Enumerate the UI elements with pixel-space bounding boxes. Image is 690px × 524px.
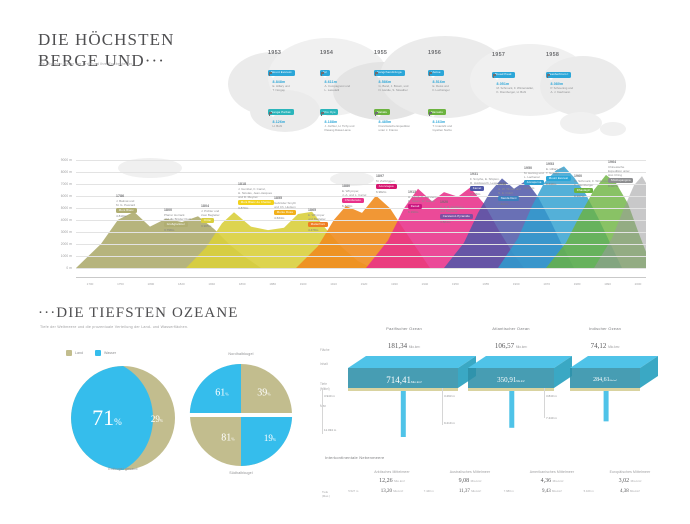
peak-tag[interactable]: Großglockner: [164, 222, 188, 227]
timeline-event: Nanga Parbat8.126mH. Buhl: [268, 100, 320, 129]
table-area-unit: Mio.km²: [631, 479, 642, 483]
table-column-header: Amerikanisches Mittelmeer: [530, 470, 574, 474]
timeline-event: Kangchendzönga8.586mG. Band, J. Brown, u…: [374, 60, 426, 93]
peak-elevation: 7.816m: [498, 202, 521, 206]
peak-elevation: 7.756m: [470, 192, 500, 196]
event-climbers: E. Reiss und F. Luchsinger: [433, 85, 481, 93]
peak-tag[interactable]: Mount Everest: [546, 176, 571, 181]
peak-tag[interactable]: Mont Blanc de Cheilon: [238, 200, 274, 205]
x-axis-tick: 1960: [513, 282, 520, 286]
x-axis-tick: 1800: [148, 282, 155, 286]
timeline-event: Cho Oyu8.188mJ. Jöchler, H. Tichy und Pa…: [320, 100, 372, 133]
timeline-year-label: 1956: [428, 50, 480, 56]
peak-climbers: F. Smythe, E. Shipton, R. Holdsworth, Le…: [470, 177, 500, 185]
table-column: Australisches Mittelmeer9,08 Mio.km²11,3…: [450, 470, 491, 494]
peak-climbers: E. Whymper, J.-A. und L. Carrel: [342, 189, 366, 197]
peak-annotation: 1964Chinesische Expedition unter Hsü Chi…: [608, 160, 633, 188]
table-row-label: Tiefe (Max.): [322, 490, 330, 498]
x-axis-tick: 1955: [482, 282, 489, 286]
mountain-chart: 9000 m8000 m7000 m6000 m5000 m4000 m3000…: [46, 160, 646, 278]
climber-flag-icon: [428, 72, 432, 76]
peak-tag[interactable]: Denali: [408, 204, 422, 209]
basin-3d-block: [468, 356, 578, 470]
basin-depth-column: [509, 391, 514, 428]
basin-floor: [468, 388, 554, 391]
table-volume: 11,37 Mio.km³: [450, 489, 491, 494]
basin-area-unit: Mio.km²: [516, 345, 527, 349]
peak-annotation: 1800Pfarrer Horrack und die Brüder Klotz…: [164, 208, 191, 232]
gridline: [76, 160, 646, 161]
basin-area-value: 74,12: [591, 342, 607, 350]
table-volume: 9,43 Mio.km³: [530, 489, 574, 494]
ocean-legend: Land Wasser: [66, 350, 116, 356]
timeline-year-label: 1958: [546, 52, 598, 58]
table-volume-unit: Mio.km³: [471, 489, 481, 493]
basin-row-label: Inhalt: [320, 362, 328, 367]
peak-climbers: Chinesische Expedition unter Hsü Ching: [608, 165, 633, 177]
basin-volume-value: 714,41: [386, 375, 411, 385]
basin-volume: 284,61Mio.km³: [593, 377, 617, 383]
x-axis-tick: 1750: [117, 282, 124, 286]
table-column-header: Europäisches Mittelmeer: [610, 470, 651, 474]
table-column: Arktisches Mittelmeer12,26 Mio.km²13,20 …: [374, 470, 410, 494]
x-axis-tick: 1970: [543, 282, 550, 286]
peak-climbers: M. Herzog und L. Lachenal: [524, 171, 544, 179]
basin-mean-depth: 3.840 m: [546, 394, 557, 398]
peak-tag[interactable]: Matterhorn: [308, 222, 328, 227]
peak-climbers: E. Whymper und Begleiter: [308, 213, 328, 221]
x-axis-tick: 1910: [330, 282, 337, 286]
pie-south-land-value: 19%: [264, 433, 276, 443]
event-climbers: P. Schoening und A. J. Kaufmann: [551, 87, 599, 95]
legend-label-water: Wasser: [104, 351, 116, 355]
table-area-unit: Mio.km²: [553, 479, 564, 483]
y-axis-tick: 2000 m: [46, 242, 72, 246]
table-column-header: Arktisches Mittelmeer: [374, 470, 410, 474]
peak-elevation: 8.167m: [574, 194, 612, 198]
table-depth: 7.440 m: [424, 489, 434, 493]
peak-elevation: 6.310m: [342, 204, 366, 208]
table-volume-value: 4,38: [620, 489, 629, 494]
timeline-event: Makalu8.485mFranzösische Expedition unte…: [374, 100, 426, 133]
peak-elevation: 8.848m: [546, 182, 571, 186]
timeline-event: Lhotse8.516mE. Reiss und F. Luchsinger: [428, 60, 480, 93]
x-axis-tick: 1950: [452, 282, 459, 286]
event-climbers: T. Imanishi und Gyalzen Norbu: [433, 125, 481, 133]
climber-flag-icon: [374, 112, 378, 116]
x-axis-tick: 1990: [604, 282, 611, 286]
peak-climbers: E. Hillary und T. Norgay: [546, 167, 571, 175]
basin-volume-unit: Mio.km³: [610, 380, 617, 382]
basin-area-unit: Mio.km²: [608, 345, 619, 349]
event-climbers: A. Compagnoni und L. Lacedelli: [325, 85, 373, 93]
basin-title: Pazifischer Ozean: [386, 326, 422, 331]
x-axis-tick: 1920: [361, 282, 368, 286]
climber-flag-icon: [268, 112, 272, 116]
table-area-unit: Mio.km²: [394, 479, 405, 483]
table-area-value: 12,26: [379, 478, 393, 484]
basin-volume-value: 350,91: [497, 376, 516, 384]
x-axis-tick: 1880: [269, 282, 276, 286]
y-axis-tick: 6000 m: [46, 194, 72, 198]
peak-annotation: 1897M. ZurbriggenAconcagua6.962m: [376, 174, 397, 194]
table-column: Amerikanisches Mittelmeer4,36 Mio.km²9,4…: [530, 470, 574, 494]
climber-flag-icon: [268, 72, 272, 76]
pie-global-land-value: 29%: [151, 414, 163, 424]
peak-annotation: 1920A. F. R. Wollaston und BegleiterCars…: [440, 200, 473, 224]
basin-row-label: Fläche: [320, 348, 330, 353]
basin-title: Indischer Ozean: [589, 326, 621, 331]
peak-tag[interactable]: Chimborazo: [342, 198, 364, 203]
x-axis-tick: 1980: [574, 282, 581, 286]
timeline-event: Manaslu8.163mT. Imanishi und Gyalzen Nor…: [428, 100, 480, 133]
event-climbers: M. Schmuck, F. Wintersteller, K. Diember…: [497, 87, 545, 95]
gridline: [76, 232, 646, 233]
table-title: Interkontinentale Nebenmeere: [325, 455, 384, 460]
peak-elevation: 4.884m: [440, 220, 473, 224]
peak-climbers: A. F. R. Wollaston und Begleiter: [440, 205, 473, 213]
basin-mean-depth: 3.940 m: [324, 394, 335, 398]
table-area-value: 4,36: [541, 478, 552, 484]
pie-chart-global: [58, 363, 188, 473]
pie-north-land-value: 39%: [257, 388, 271, 399]
chart-x-axis: [76, 277, 646, 278]
peak-annotation: 1913H. Stuck, H. Karstens, R. Tatum, W. …: [408, 190, 438, 214]
basin-area: 74,12 Mio.km²: [591, 342, 620, 350]
event-climbers: Französische Expedition unter J. Franco: [379, 125, 427, 133]
peak-tag[interactable]: Mont Blanc: [116, 208, 137, 213]
peak-climbers: J. Pichler und zwei Begleiter: [201, 209, 220, 217]
ocean-title: ···DIE TIEFSTEN OZEANE: [38, 305, 239, 322]
basin-surface: [468, 356, 572, 368]
peak-climbers: J. Gumbar, F. Carrel, H. Nicolas, Jean-J…: [238, 187, 274, 199]
timeline-event: Gasherbrum I8.080mP. Schoening und A. J.…: [546, 62, 598, 95]
peak-elevation: 3.798m: [164, 228, 191, 232]
timeline-year-1953: 1953Mount Everest8.848mE. Hillary und T.…: [268, 50, 320, 136]
table-volume-unit: Mio.km³: [630, 489, 640, 493]
timeline-year-1954: 1954K28.611mA. Compagnoni und L. Lacedel…: [320, 50, 372, 140]
timeline-event: Mount Everest8.848mE. Hillary und T. Nor…: [268, 60, 320, 93]
table-area-value: 3,02: [619, 478, 630, 484]
y-axis-tick: 0 m: [46, 266, 72, 270]
basin-mean-depth: 3.293 m: [444, 394, 455, 398]
basin-area: 106,57 Mio.km²: [495, 342, 527, 350]
peak-annotation: 1855Gebrüder Smyth und Ch. HudsonMonte R…: [274, 196, 296, 220]
timeline-event: K28.611mA. Compagnoni und L. Lacedelli: [320, 60, 372, 93]
y-axis-tick: 4000 m: [46, 218, 72, 222]
basin-surface: [348, 356, 476, 368]
gridline: [76, 244, 646, 245]
peak-tag[interactable]: Carstensz-Pyramide: [440, 214, 473, 219]
peak-annotation: 1865E. Whymper und BegleiterMatterhorn4.…: [308, 208, 328, 232]
peak-tag[interactable]: Aconcagua: [376, 184, 397, 189]
basin-max-depth: 9.219 m: [444, 421, 455, 425]
table-column: Europäisches Mittelmeer3,02 Mio.km²4,38 …: [610, 470, 651, 494]
x-axis-tick: 2000: [635, 282, 642, 286]
peak-climbers: J. Balmat und M. G. Paccard: [116, 199, 137, 207]
peak-annotation: 1786J. Balmat und M. G. PaccardMont Blan…: [116, 194, 137, 218]
x-axis-tick: 1820: [178, 282, 185, 286]
page-subtitle: Die höchsten Berge der Erde und ihre Ers…: [39, 62, 134, 66]
basin-area: 181,34 Mio.km²: [388, 342, 420, 350]
peak-climbers: M. Zurbriggen: [376, 179, 397, 183]
climber-flag-icon: [374, 72, 378, 76]
basin-depth-column: [604, 391, 609, 421]
event-climbers: J. Jöchler, H. Tichy und Pasang Dawa Lam…: [325, 125, 373, 133]
basin-3d-block: [570, 356, 664, 470]
basin-max-depth: 7.440 m: [546, 416, 557, 420]
table-volume: 4,38 Mio.km³: [610, 489, 651, 494]
depth-scale-line: [442, 388, 443, 425]
x-axis-tick: 1860: [239, 282, 246, 286]
x-axis-tick: 1840: [208, 282, 215, 286]
basin-volume-value: 284,61: [593, 377, 610, 383]
basin-volume: 714,41Mio.km³: [386, 375, 422, 385]
basin-area-value: 181,34: [388, 342, 407, 350]
table-area: 9,08 Mio.km²: [450, 478, 491, 484]
legend-label-land: Land: [75, 351, 83, 355]
timeline-year-label: 1953: [268, 50, 320, 56]
depth-scale-line: [544, 388, 545, 418]
y-axis-tick: 1000 m: [46, 254, 72, 258]
table-column-header: Australisches Mittelmeer: [450, 470, 491, 474]
pie-global-label: Erdkugel gesamt: [108, 467, 137, 471]
table-area-unit: Mio.km²: [471, 479, 482, 483]
pie-south-label: Südhalbkugel: [229, 471, 253, 475]
peak-tag[interactable]: Shishapangma: [608, 178, 633, 183]
x-axis-tick: 1930: [391, 282, 398, 286]
peak-elevation: 4.634m: [274, 216, 296, 220]
table-depth: 7.680 m: [504, 489, 514, 493]
ocean-subtitle: Tiefe der Weltmeere und die prozentuale …: [40, 325, 188, 329]
basin-volume-unit: Mio.km³: [411, 380, 422, 384]
climber-flag-icon: [546, 74, 550, 78]
peak-tag[interactable]: Dhaulagiri: [574, 188, 593, 193]
event-climbers: H. Buhl: [273, 125, 321, 129]
peak-climbers: Gebrüder Smyth und Ch. Hudson: [274, 201, 296, 209]
peak-climbers: Pfarrer Horrack und die Brüder Klotz: [164, 213, 191, 221]
y-axis-tick: 8000 m: [46, 170, 72, 174]
peak-tag[interactable]: Annapurna: [524, 180, 544, 185]
timeline-year-label: 1955: [374, 50, 426, 56]
basin-max-depth: 11.034 m: [324, 428, 336, 432]
basin-3d-block: [348, 356, 482, 470]
basin-floor: [570, 388, 640, 391]
climber-flag-icon: [492, 74, 496, 78]
pie-north-label: Nordhalbkugel: [228, 352, 253, 356]
basin-title: Atlantischer Ozean: [492, 326, 529, 331]
x-axis-tick: 1940: [422, 282, 429, 286]
timeline-year-1957: 1957Broad Peak8.051mM. Schmuck, F. Winte…: [492, 52, 544, 102]
table-volume-unit: Mio.km³: [552, 489, 562, 493]
legend-swatch-land: [66, 350, 72, 356]
peak-tag[interactable]: Kamet: [470, 186, 484, 191]
event-tag[interactable]: Kangchendzönga: [374, 70, 405, 76]
peak-tag[interactable]: Monte Rosa: [274, 210, 296, 215]
peak-annotation: 1818J. Gumbar, F. Carrel, H. Nicolas, Je…: [238, 182, 274, 210]
basin-volume-unit: Mio.km³: [516, 380, 524, 383]
basin-volume: 350,91Mio.km³: [497, 376, 525, 384]
pie-south-water-value: 81%: [221, 433, 235, 444]
climber-flag-icon: [428, 112, 432, 116]
timeline-year-1956: 1956Lhotse8.516mE. Reiss und F. Luchsing…: [428, 50, 480, 140]
table-volume-value: 9,43: [542, 489, 551, 494]
table-area-value: 9,08: [459, 478, 470, 484]
table-depth: 5.109 m: [584, 489, 594, 493]
table-volume: 13,20 Mio.km³: [374, 489, 410, 494]
peak-climbers: H. W. Tilman und N. E. Odell: [498, 187, 521, 195]
peak-climbers: H. Stuck, H. Karstens, R. Tatum, W. Harp…: [408, 195, 438, 203]
peak-elevation: 3.905m: [201, 224, 220, 228]
peak-elevation: 8.091m: [524, 186, 544, 190]
peak-elevation: 4.810m: [116, 214, 137, 218]
basin-area-unit: Mio.km²: [409, 345, 420, 349]
table-area: 4,36 Mio.km²: [530, 478, 574, 484]
y-axis-tick: 5000 m: [46, 206, 72, 210]
infographic-canvas: DIE HÖCHSTEN BERGE UND··· Die höchsten B…: [0, 0, 690, 524]
legend-item-water: Wasser: [95, 350, 116, 356]
peak-annotation: 1953E. Hillary und T. NorgayMount Everes…: [546, 162, 571, 186]
basin-area-value: 106,57: [495, 342, 514, 350]
peak-elevation: 6.190m: [408, 210, 438, 214]
pie-north-water-value: 61%: [215, 388, 229, 399]
peak-elevation: 3.870m: [238, 206, 274, 210]
y-axis-tick: 3000 m: [46, 230, 72, 234]
peak-annotation: 1950M. Herzog und L. LachenalAnnapurna8.…: [524, 166, 544, 190]
peak-tag[interactable]: Ortler: [201, 218, 214, 223]
y-axis-tick: 7000 m: [46, 182, 72, 186]
table-area: 3,02 Mio.km²: [610, 478, 651, 484]
timeline-year-label: 1954: [320, 50, 372, 56]
peak-climbers: M. Schmuck, F. Wintersteller K. Diemberg…: [574, 179, 612, 187]
y-axis-tick: 9000 m: [46, 158, 72, 162]
title-line-2: BERGE UND···: [38, 51, 174, 71]
peak-annotation: 1960M. Schmuck, F. Wintersteller K. Diem…: [574, 174, 612, 198]
table-depth: 5.527 m: [348, 489, 358, 493]
peak-annotation: 1804J. Pichler und zwei BegleiterOrtler3…: [201, 204, 220, 228]
table-area: 12,26 Mio.km²: [374, 478, 410, 484]
x-axis-tick: 1700: [87, 282, 94, 286]
peak-elevation: 4.478m: [308, 228, 328, 232]
peak-elevation: 6.962m: [376, 190, 397, 194]
x-axis-tick: 1900: [300, 282, 307, 286]
cloud-shape: [560, 112, 602, 134]
gridline: [76, 256, 646, 257]
event-climbers: G. Band, J. Brown, und N. Hardie, S. Str…: [379, 85, 427, 93]
peak-annotation: 1931F. Smythe, E. Shipton, R. Holdsworth…: [470, 172, 500, 196]
timeline-event: Broad Peak8.051mM. Schmuck, F. Winterste…: [492, 62, 544, 95]
gridline: [76, 268, 646, 269]
timeline-year-label: 1957: [492, 52, 544, 58]
event-climbers: E. Hillary und T. Norgay: [273, 85, 321, 93]
timeline-year-1958: 1958Gasherbrum I8.080mP. Schoening und A…: [546, 52, 598, 102]
table-volume-value: 11,37: [459, 489, 470, 494]
table-volume-unit: Mio.km³: [393, 489, 403, 493]
peak-tag[interactable]: Nanda Devi: [498, 196, 519, 201]
legend-item-land: Land: [66, 350, 83, 356]
peak-annotation: 1880E. Whymper, J.-A. und L. CarrelChimb…: [342, 184, 366, 208]
basin-row-label: Max: [320, 404, 326, 409]
pie-global-water-value: 71%: [92, 405, 122, 431]
depth-scale-line: [322, 388, 323, 434]
timeline-year-1955: 1955Kangchendzönga8.586mG. Band, J. Brow…: [374, 50, 426, 140]
cloud-shape: [600, 122, 626, 136]
peak-annotation: 1936H. W. Tilman und N. E. OdellNanda De…: [498, 182, 521, 206]
basin-depth-column: [401, 391, 406, 437]
pie-chart-hemispheres: [187, 362, 297, 470]
legend-swatch-water: [95, 350, 101, 356]
climber-flag-icon: [320, 72, 324, 76]
peak-elevation: 8.027m: [608, 184, 633, 188]
climber-flag-icon: [320, 112, 324, 116]
table-volume-value: 13,20: [381, 489, 392, 494]
title-line-1: DIE HÖCHSTEN: [38, 30, 174, 49]
gridline: [76, 220, 646, 221]
